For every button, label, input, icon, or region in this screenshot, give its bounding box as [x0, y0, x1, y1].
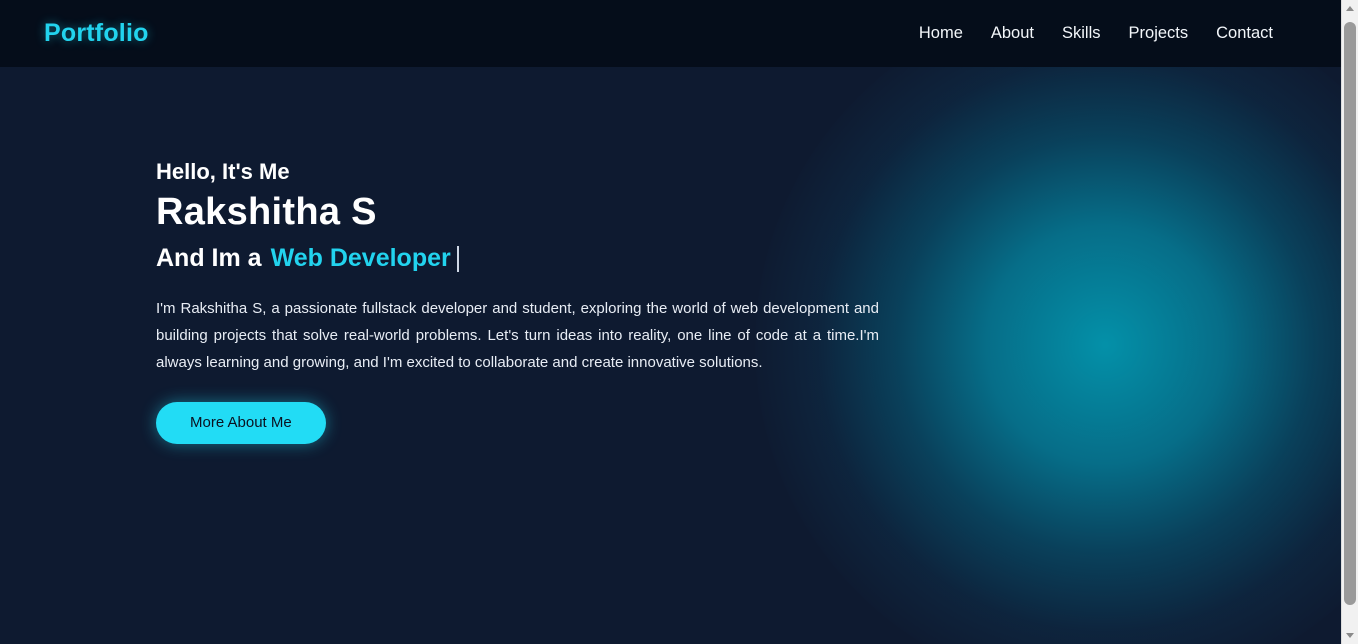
nav-item-about[interactable]: About — [991, 24, 1034, 43]
browser-viewport: Portfolio Home About Skills Projects Con… — [0, 0, 1358, 644]
hero-inner: Hello, It's Me Rakshitha S And Im a Web … — [0, 67, 1341, 644]
hero-section: Hello, It's Me Rakshitha S And Im a Web … — [0, 67, 1341, 644]
hero-visual-block — [725, 67, 1341, 644]
hero-greeting: Hello, It's Me — [156, 159, 725, 185]
nav-item-skills[interactable]: Skills — [1062, 24, 1101, 43]
main-navigation: Home About Skills Projects Contact — [919, 24, 1273, 43]
scroll-down-button[interactable] — [1342, 627, 1358, 644]
hero-text-block: Hello, It's Me Rakshitha S And Im a Web … — [0, 67, 725, 444]
scrollbar-thumb[interactable] — [1344, 22, 1356, 605]
page-content: Portfolio Home About Skills Projects Con… — [0, 0, 1341, 644]
hero-name: Rakshitha S — [156, 191, 725, 234]
vertical-scrollbar[interactable] — [1341, 0, 1358, 644]
more-about-me-button[interactable]: More About Me — [156, 402, 326, 444]
chevron-up-icon — [1346, 6, 1354, 11]
nav-item-contact[interactable]: Contact — [1216, 24, 1273, 43]
hero-role-accent: Web Developer — [271, 244, 451, 273]
hero-role-prefix: And Im a — [156, 244, 262, 273]
chevron-down-icon — [1346, 633, 1354, 638]
hero-role-line: And Im a Web Developer — [156, 244, 725, 273]
site-header: Portfolio Home About Skills Projects Con… — [0, 0, 1341, 67]
site-logo[interactable]: Portfolio — [44, 19, 149, 48]
typing-cursor — [457, 246, 459, 272]
nav-item-projects[interactable]: Projects — [1129, 24, 1189, 43]
nav-item-home[interactable]: Home — [919, 24, 963, 43]
scroll-up-button[interactable] — [1342, 0, 1358, 17]
